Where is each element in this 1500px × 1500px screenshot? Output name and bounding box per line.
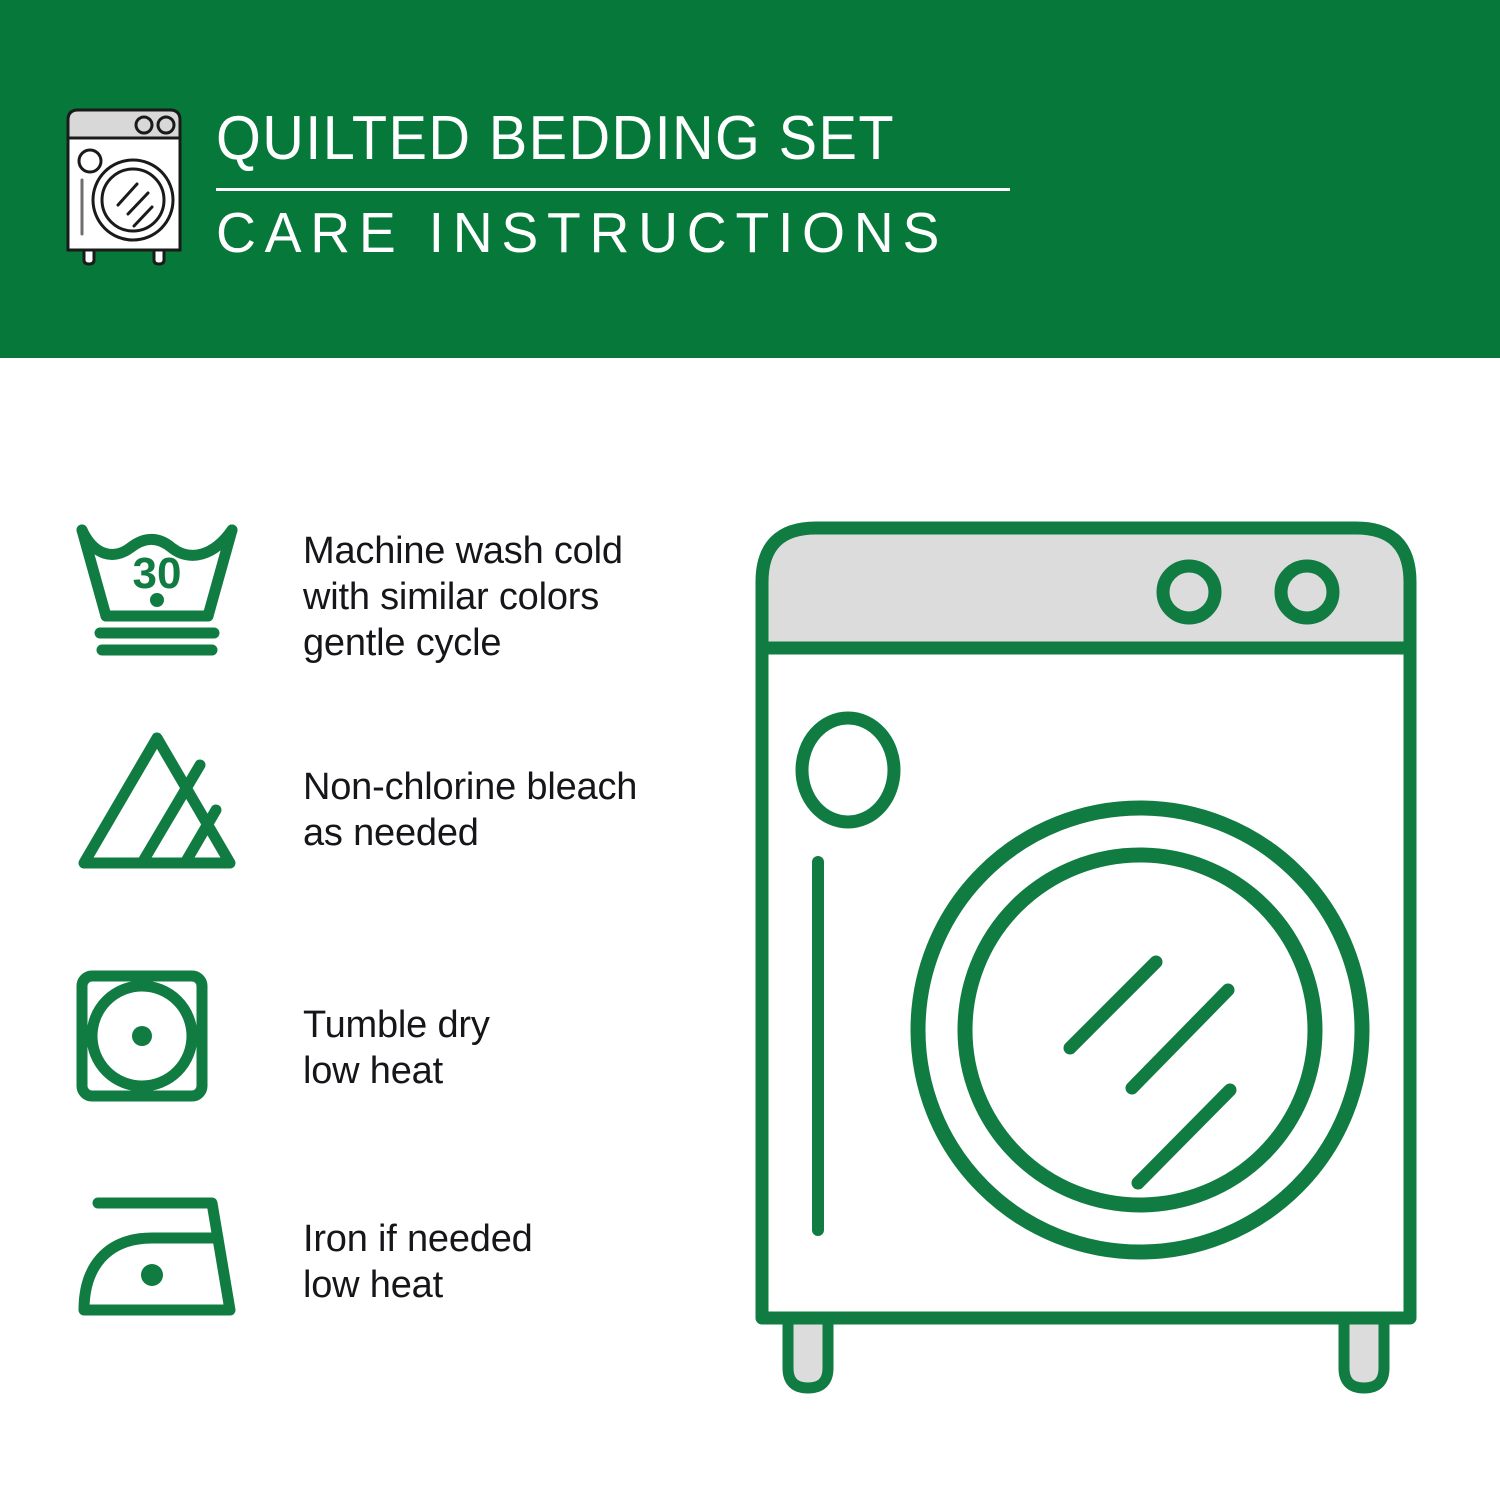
door-inner-ring <box>965 855 1315 1205</box>
care-instructions-list: 30 Machine wash cold with similar colors… <box>0 358 740 1500</box>
page-subtitle: CARE INSTRUCTIONS <box>216 200 948 266</box>
knob-right <box>1281 566 1333 618</box>
wash-dot <box>150 593 164 607</box>
care-text-line: Non-chlorine bleach <box>303 764 637 810</box>
care-text-bleach: Non-chlorine bleach as needed <box>303 764 637 856</box>
detergent-dial <box>802 718 894 822</box>
washing-machine-icon <box>62 104 198 266</box>
care-text-wash: Machine wash cold with similar colors ge… <box>303 528 623 666</box>
care-text-line: Iron if needed <box>303 1216 533 1262</box>
knob-left <box>1163 566 1215 618</box>
front-load-washing-machine-illustration <box>740 470 1480 1440</box>
care-text-line: with similar colors <box>303 574 623 620</box>
iron-one-dot-icon <box>72 1190 247 1325</box>
iron-dot <box>141 1264 163 1286</box>
page-title: QUILTED BEDDING SET <box>216 104 960 174</box>
care-text-line: Tumble dry <box>303 1002 490 1048</box>
tumble-dry-one-dot-icon <box>72 966 212 1111</box>
care-instructions-infographic: QUILTED BEDDING SET CARE INSTRUCTIONS <box>0 0 1500 1500</box>
care-text-line: Machine wash cold <box>303 528 623 574</box>
care-text-line: low heat <box>303 1048 490 1094</box>
wash-tub-30-icon: 30 <box>72 516 242 661</box>
tumble-dry-dot <box>132 1026 152 1046</box>
wash-temperature-label: 30 <box>133 549 182 598</box>
care-text-line: as needed <box>303 810 637 856</box>
care-text-iron: Iron if needed low heat <box>303 1216 533 1308</box>
title-divider <box>216 188 1010 191</box>
care-text-line: gentle cycle <box>303 620 623 666</box>
header-band: QUILTED BEDDING SET CARE INSTRUCTIONS <box>0 0 1500 358</box>
care-text-line: low heat <box>303 1262 533 1308</box>
bleach-triangle-icon <box>72 728 242 878</box>
care-text-tumble-dry: Tumble dry low heat <box>303 1002 490 1094</box>
header-text-block: QUILTED BEDDING SET CARE INSTRUCTIONS <box>216 104 1016 266</box>
